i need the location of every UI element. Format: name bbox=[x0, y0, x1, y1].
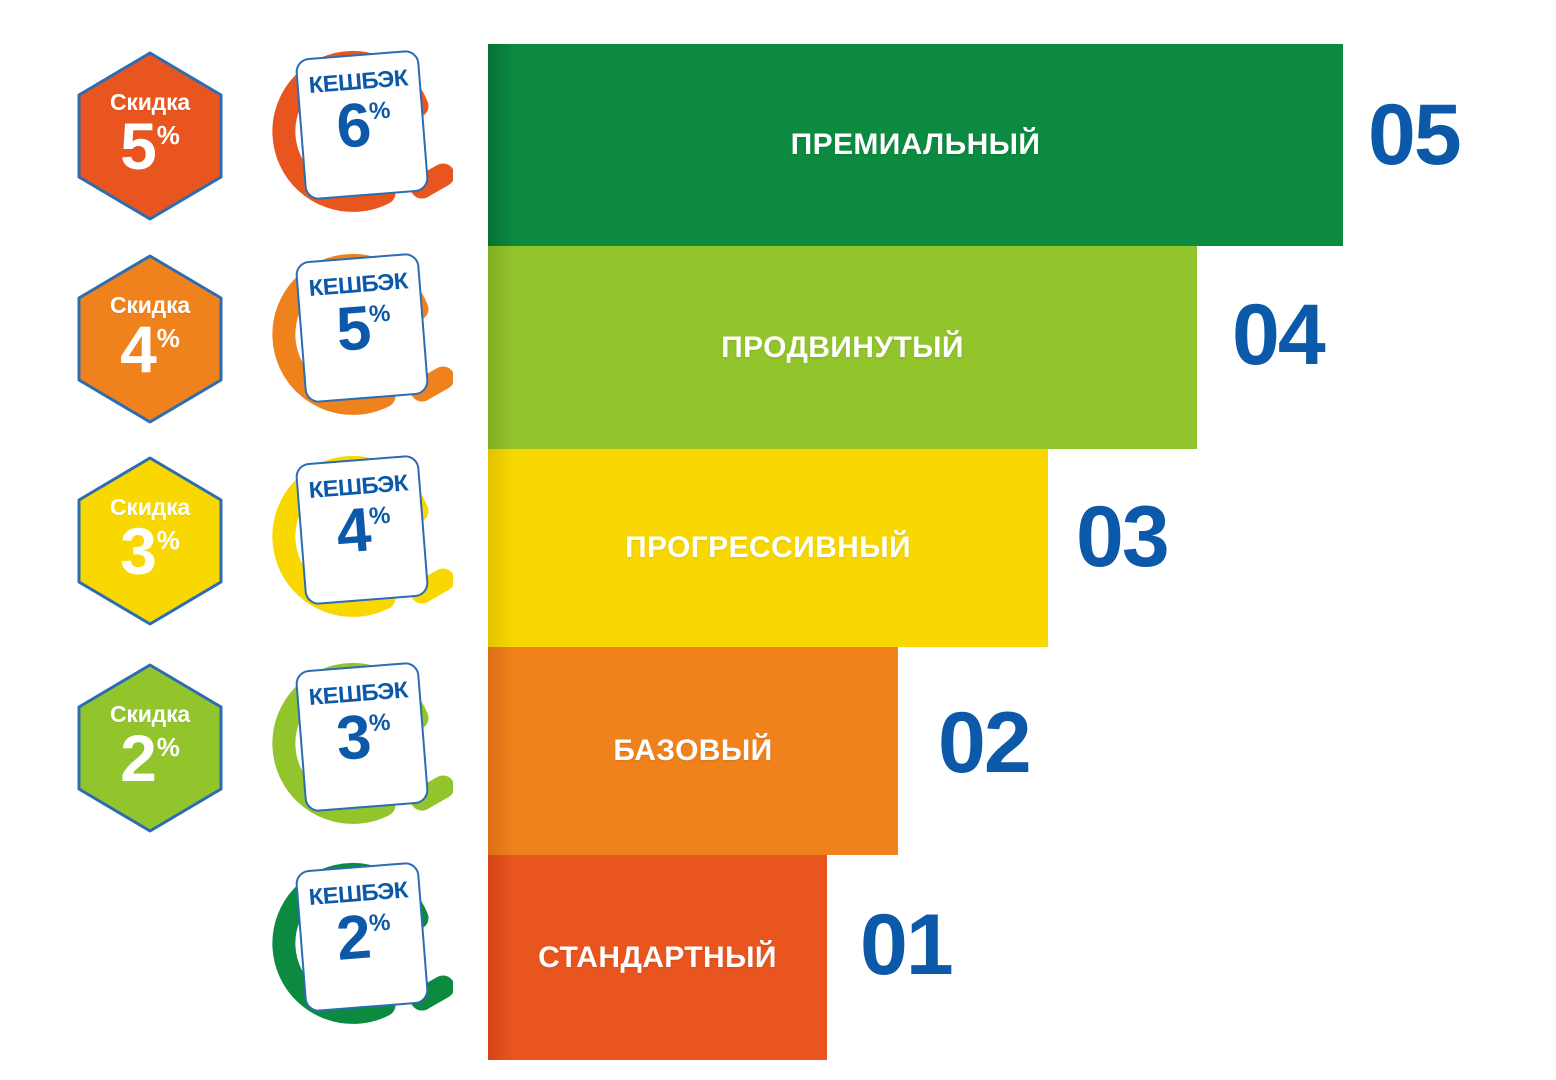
tier-bar-02[interactable]: БАЗОВЫЙ bbox=[488, 647, 898, 855]
cashback-card bbox=[295, 861, 430, 1012]
tier-name-label: ПРОДВИНУТЫЙ bbox=[721, 331, 964, 365]
tier-number-01: 01 bbox=[860, 902, 952, 988]
discount-hexagon-badge-03[interactable]: Скидка3% bbox=[75, 455, 225, 627]
cashback-badge-02[interactable]: КЕШБЭК3% bbox=[267, 662, 453, 834]
tier-number-04: 04 bbox=[1232, 292, 1324, 378]
hexagon-shape bbox=[75, 662, 225, 834]
tier-bar-05[interactable]: ПРЕМИАЛЬНЫЙ bbox=[488, 44, 1343, 246]
tier-number-05: 05 bbox=[1368, 92, 1460, 178]
tier-name-label: СТАНДАРТНЫЙ bbox=[538, 941, 777, 975]
tier-bar-01[interactable]: СТАНДАРТНЫЙ bbox=[488, 855, 827, 1060]
cashback-badge-04[interactable]: КЕШБЭК5% bbox=[267, 253, 453, 425]
tier-name-label: ПРЕМИАЛЬНЫЙ bbox=[791, 128, 1041, 162]
discount-hexagon-badge-04[interactable]: Скидка4% bbox=[75, 253, 225, 425]
cashback-badge-05[interactable]: КЕШБЭК6% bbox=[267, 50, 453, 222]
discount-hexagon-badge-05[interactable]: Скидка5% bbox=[75, 50, 225, 222]
cashback-badge-01[interactable]: КЕШБЭК2% bbox=[267, 862, 453, 1034]
discount-hexagon-badge-02[interactable]: Скидка2% bbox=[75, 662, 225, 834]
hexagon-shape bbox=[75, 50, 225, 222]
tier-name-label: ПРОГРЕССИВНЫЙ bbox=[625, 531, 911, 565]
cashback-badge-03[interactable]: КЕШБЭК4% bbox=[267, 455, 453, 627]
tier-bar-04[interactable]: ПРОДВИНУТЫЙ bbox=[488, 246, 1197, 449]
tier-number-02: 02 bbox=[938, 700, 1030, 786]
tier-number-03: 03 bbox=[1076, 494, 1168, 580]
hexagon-shape bbox=[75, 455, 225, 627]
hexagon-shape bbox=[75, 253, 225, 425]
loyalty-tiers-infographic: Скидка5%КЕШБЭК6%ПРЕМИАЛЬНЫЙ05Скидка4%КЕШ… bbox=[0, 0, 1556, 1080]
tier-name-label: БАЗОВЫЙ bbox=[613, 734, 772, 768]
cashback-card bbox=[295, 454, 430, 605]
cashback-card bbox=[295, 661, 430, 812]
cashback-card bbox=[295, 252, 430, 403]
tier-bar-03[interactable]: ПРОГРЕССИВНЫЙ bbox=[488, 449, 1048, 647]
cashback-card bbox=[295, 49, 430, 200]
